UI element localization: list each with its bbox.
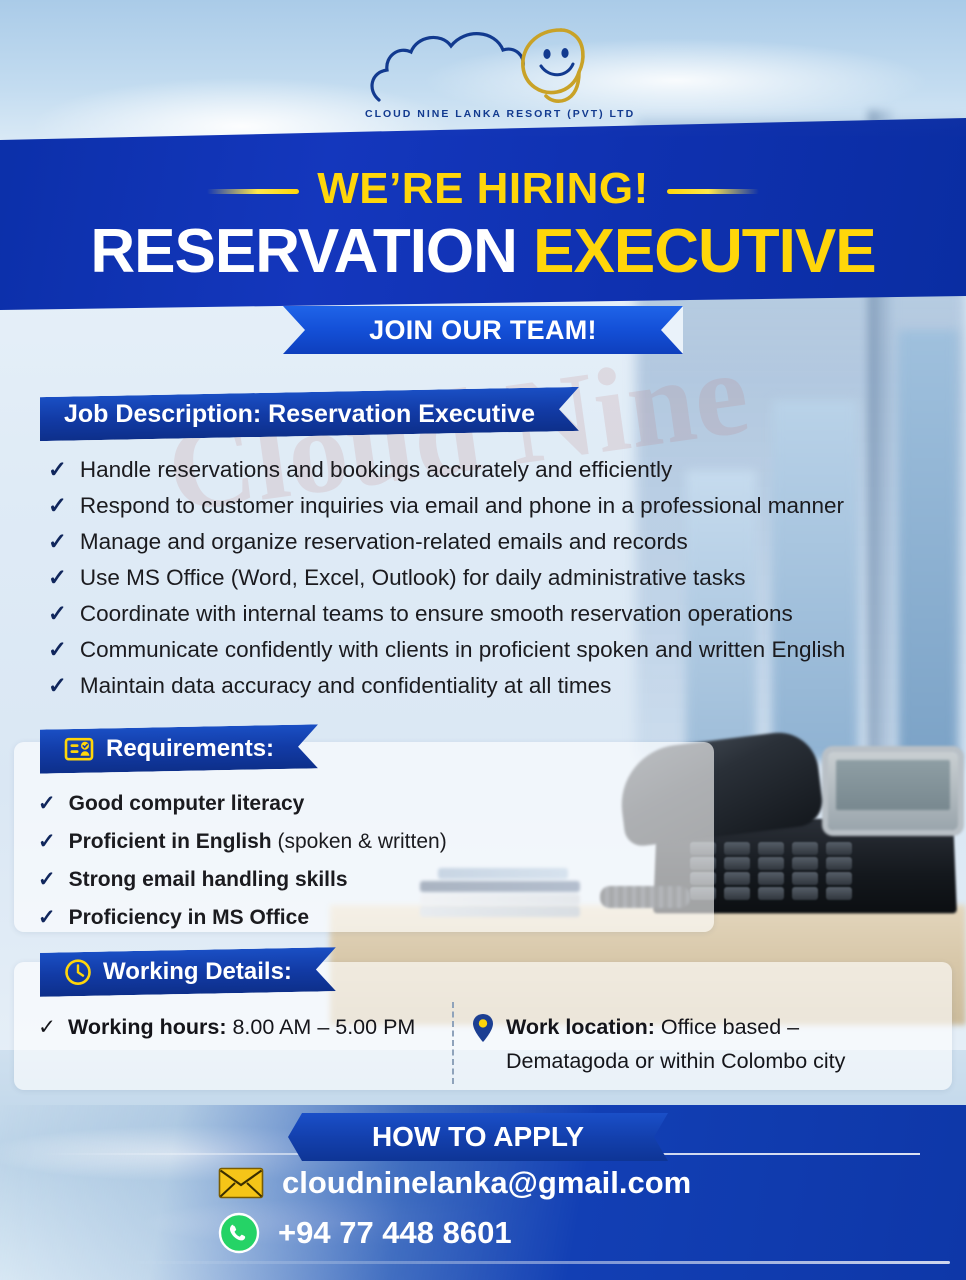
job-description-banner-label: Job Description: Reservation Executive [64,400,535,429]
email-address: cloudninelanka@gmail.com [282,1165,691,1201]
map-pin-icon [472,1014,494,1042]
requirements-banner-label: Requirements: [106,735,274,763]
hiring-text: WE’RE HIRING! [317,164,649,213]
requirement-item: ✓Good computer literacy [38,785,558,823]
job-description-item-text: Maintain data accuracy and confidentiali… [80,668,612,704]
job-description-item-text: Handle reservations and bookings accurat… [80,452,672,488]
check-icon: ✓ [48,632,67,668]
job-description-item-text: Communicate confidently with clients in … [80,632,845,668]
job-description-item: ✓Use MS Office (Word, Excel, Outlook) fo… [48,560,878,596]
requirement-item: ✓Proficient in English (spoken & written… [38,823,558,861]
requirement-item: ✓Proficiency in MS Office [38,899,558,937]
working-details-banner-label: Working Details: [103,958,292,986]
work-location-label: Work location: [506,1015,655,1039]
how-to-apply-banner: HOW TO APPLY [288,1113,668,1161]
check-icon: ✓ [48,668,67,704]
whatsapp-icon [218,1212,260,1254]
requirement-item: ✓Strong email handling skills [38,861,558,899]
clock-icon [64,958,92,986]
join-our-team-banner: JOIN OUR TEAM! [283,306,683,354]
job-description-item-text: Coordinate with internal teams to ensure… [80,596,793,632]
working-hours-value: 8.00 AM – 5.00 PM [226,1015,415,1039]
dash-right-decoration [667,189,759,194]
check-icon: ✓ [48,524,67,560]
check-icon: ✓ [38,823,56,861]
requirements-list: ✓Good computer literacy✓Proficient in En… [38,785,558,937]
check-icon: ✓ [38,785,56,823]
phone-number: +94 77 448 8601 [278,1215,512,1251]
envelope-icon [218,1167,264,1199]
check-icon: ✓ [38,899,56,937]
id-card-check-icon [64,736,94,762]
hiring-headline: WE’RE HIRING! [0,164,966,214]
work-location-line2: Dematagoda or within Colombo city [506,1049,845,1073]
job-description-item: ✓Respond to customer inquiries via email… [48,488,878,524]
role-secondary: EXECUTIVE [533,217,875,286]
company-name-caption: CLOUD NINE LANKA RESORT (PVT) LTD [365,108,610,120]
working-hours-block: ✓ Working hours: 8.00 AM – 5.00 PM [38,1010,458,1044]
job-description-item: ✓Communicate confidently with clients in… [48,632,878,668]
role-title: RESERVATION EXECUTIVE [0,216,966,287]
how-to-apply-label: HOW TO APPLY [372,1121,584,1153]
check-icon: ✓ [38,1010,56,1044]
check-icon: ✓ [48,596,67,632]
company-logo: CLOUD NINE LANKA RESORT (PVT) LTD [365,12,610,130]
whatsapp-contact[interactable]: +94 77 448 8601 [218,1212,512,1254]
check-icon: ✓ [48,452,67,488]
work-location-block: Work location: Office based – Dematagoda… [472,1010,942,1078]
requirement-item-text: Strong email handling skills [69,861,348,899]
job-description-list: ✓Handle reservations and bookings accura… [48,452,878,704]
requirement-item-text: Proficiency in MS Office [69,899,309,937]
check-icon: ✓ [38,861,56,899]
email-contact[interactable]: cloudninelanka@gmail.com [218,1165,691,1201]
working-details-banner: Working Details: [40,947,336,997]
cloud-smiley-nine-icon [365,12,610,112]
join-our-team-label: JOIN OUR TEAM! [369,315,597,346]
role-primary: RESERVATION [90,217,517,286]
job-description-item: ✓Handle reservations and bookings accura… [48,452,878,488]
job-description-item: ✓Coordinate with internal teams to ensur… [48,596,878,632]
job-description-item-text: Manage and organize reservation-related … [80,524,688,560]
work-location-value: Office based – [655,1015,799,1039]
requirement-item-text: Proficient in English (spoken & written) [69,823,447,861]
check-icon: ✓ [48,560,67,596]
requirement-item-text: Good computer literacy [69,785,305,823]
check-icon: ✓ [48,488,67,524]
requirements-banner: Requirements: [40,724,318,773]
job-description-item: ✓Maintain data accuracy and confidential… [48,668,878,704]
job-description-item-text: Respond to customer inquiries via email … [80,488,844,524]
job-description-item: ✓Manage and organize reservation-related… [48,524,878,560]
working-hours-label: Working hours: [68,1015,226,1039]
job-description-item-text: Use MS Office (Word, Excel, Outlook) for… [80,560,746,596]
dash-left-decoration [207,189,299,194]
